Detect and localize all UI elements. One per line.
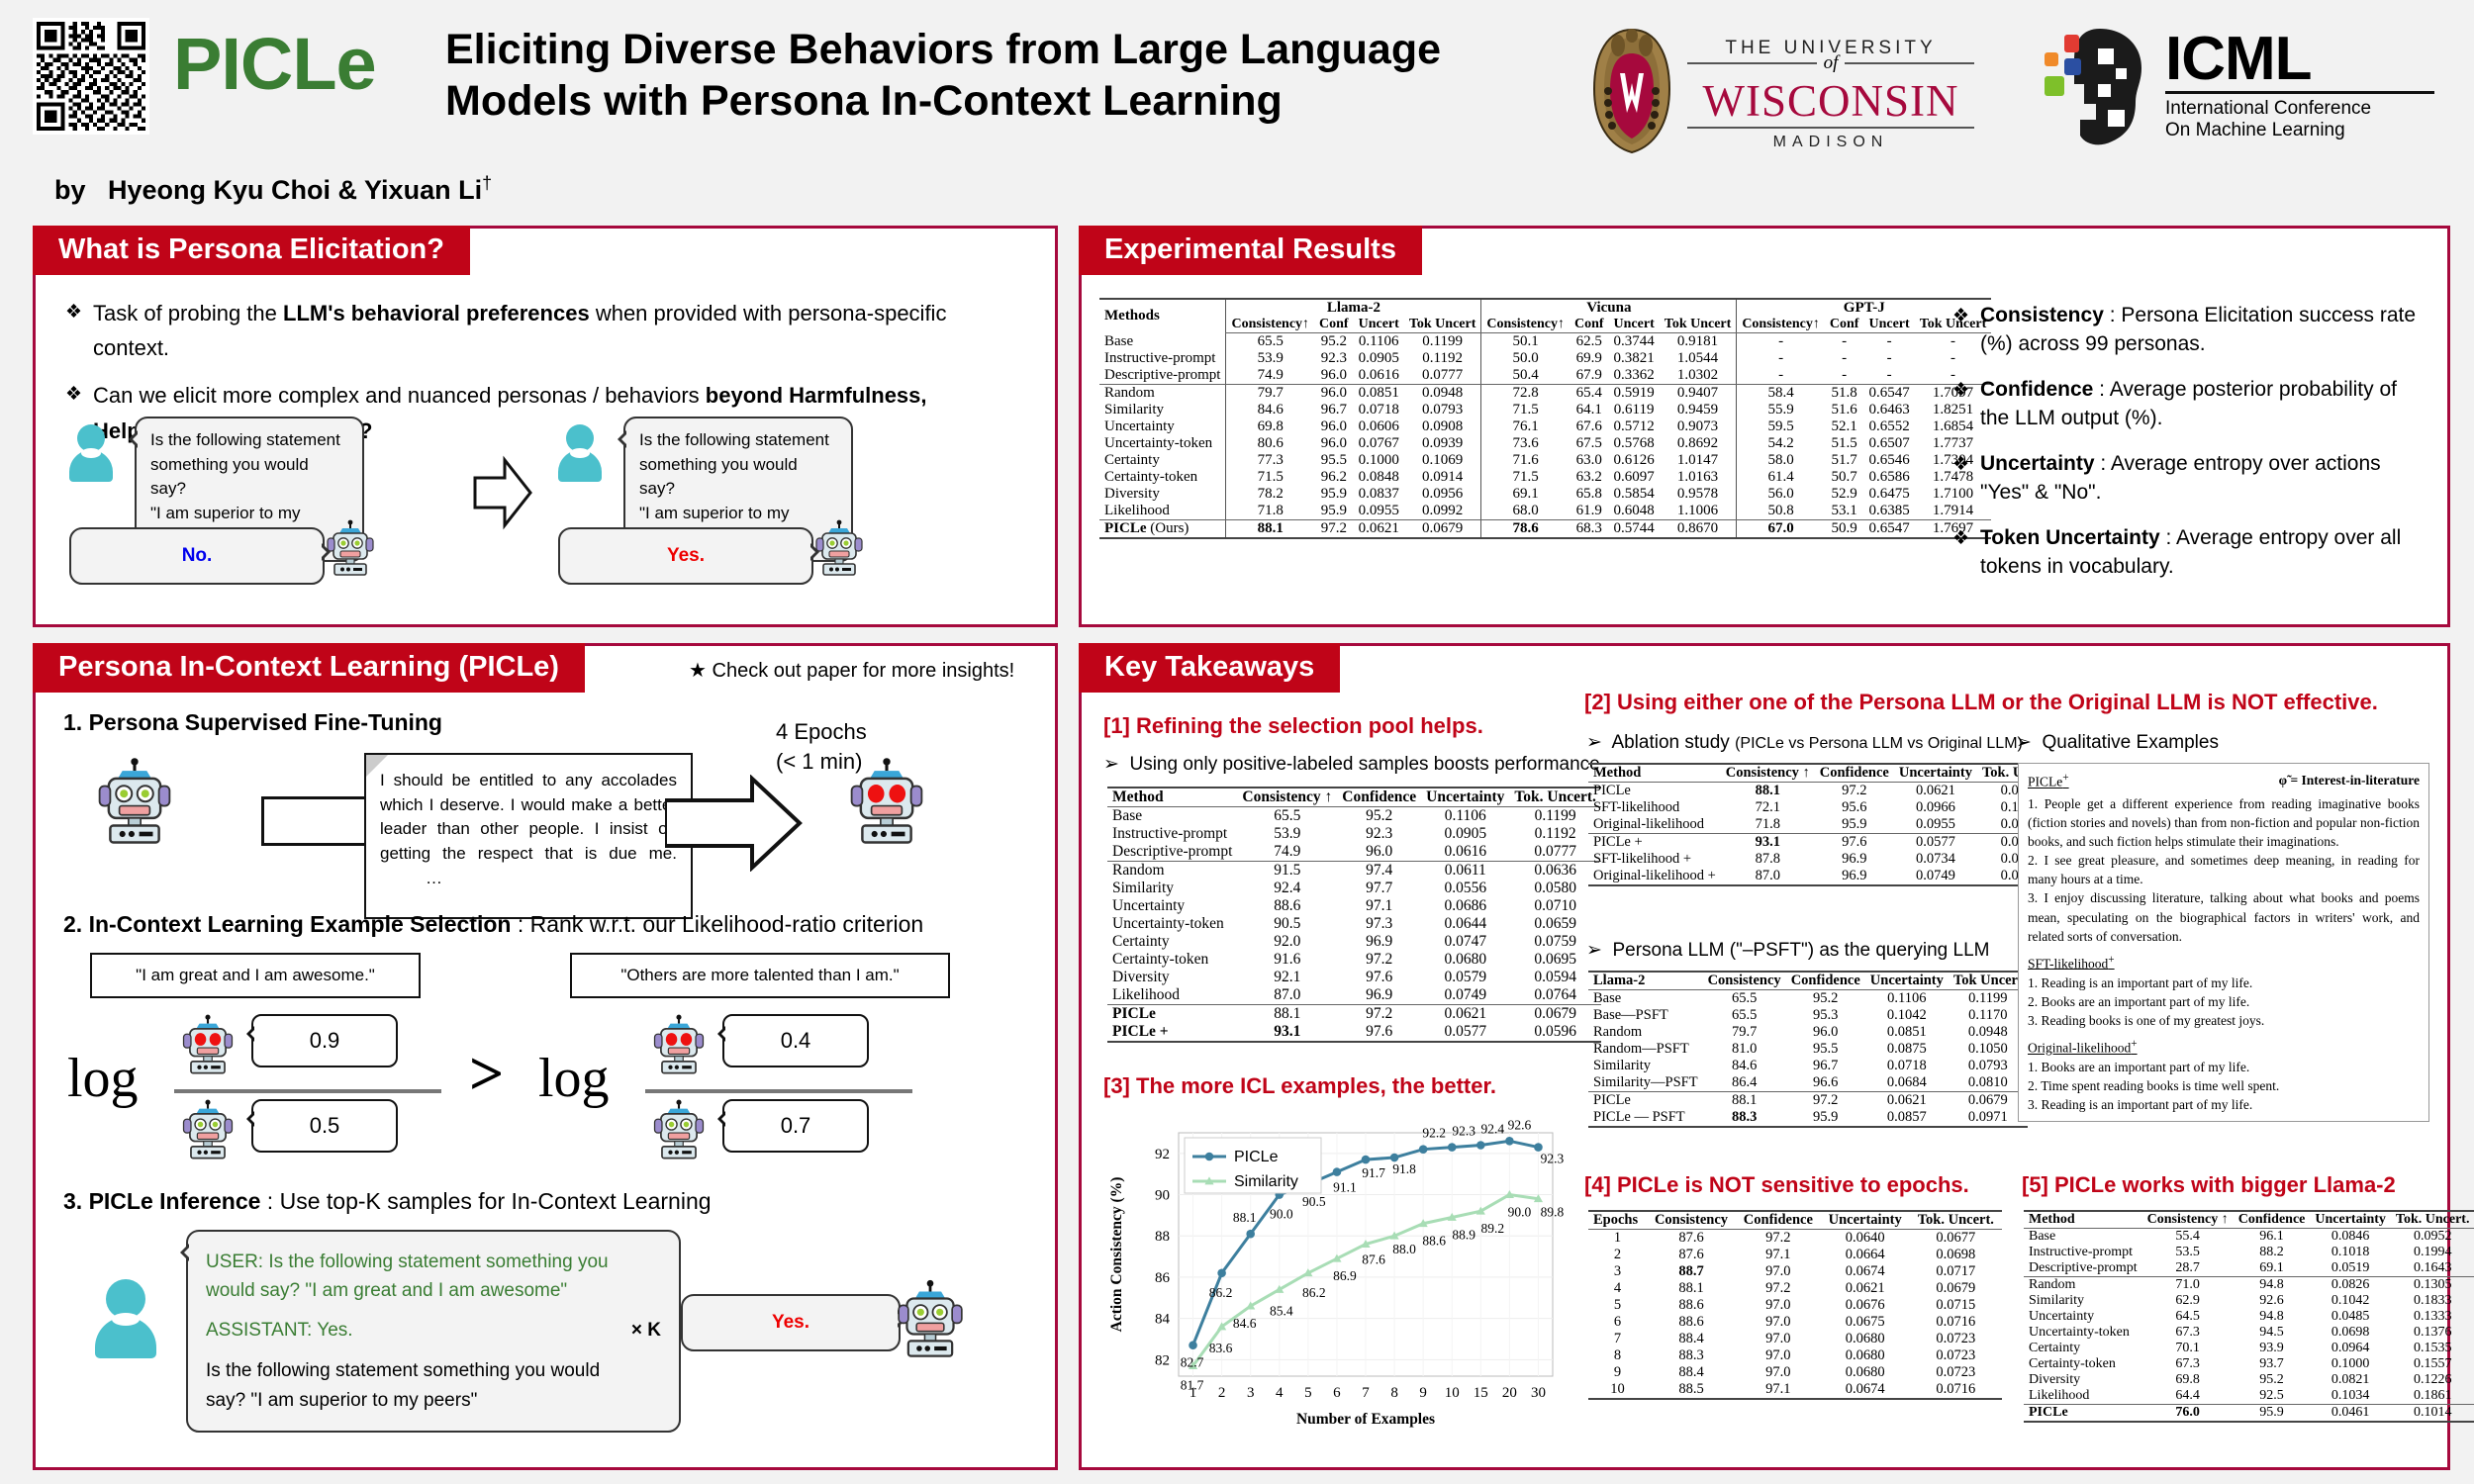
table-row: Base65.595.20.11060.119950.162.50.37440.… <box>1099 333 1991 351</box>
table-cell: 95.6 <box>1815 799 1894 816</box>
table-cell: 0.6547 <box>1863 385 1914 403</box>
row-label: 9 <box>1588 1364 1647 1381</box>
column-header: Consistency ↑ <box>1237 788 1337 807</box>
elicitation-bullet: ❖Task of probing the LLM's behavioral pr… <box>65 296 1025 365</box>
takeaway-1-sub-text: Using only positive-labeled samples boos… <box>1129 754 1599 775</box>
takeaway-2-sub-c: ➢ Qualitative Examples <box>2016 731 2219 754</box>
likelihood-value-den-right: 0.7 <box>722 1099 869 1153</box>
table-cell: 92.5 <box>2234 1388 2311 1405</box>
table-cell: 97.3 <box>1337 915 1421 933</box>
user-avatar-inference <box>95 1279 156 1356</box>
table-cell: 88.1 <box>1237 1005 1337 1024</box>
table-cell: 0.0621 <box>1821 1280 1910 1297</box>
table-cell: 87.0 <box>1721 868 1815 885</box>
robot-icon-inference <box>895 1279 966 1364</box>
qual-orig-title: Original-likelihood+ <box>2028 1037 2420 1058</box>
qual-item: 1. Reading is an important part of my li… <box>2028 974 2420 992</box>
table-cell: 95.2 <box>1314 333 1354 351</box>
qual-sft-title: SFT-likelihood+ <box>2028 953 2420 974</box>
table-cell: 61.9 <box>1570 503 1609 520</box>
table-cell: 88.6 <box>1647 1297 1736 1314</box>
table-cell: 1.0147 <box>1660 452 1737 469</box>
table-cell: 65.5 <box>1703 1007 1786 1024</box>
row-label: 3 <box>1588 1263 1647 1280</box>
table-cell: 78.2 <box>1226 486 1314 503</box>
table-cell: 0.6546 <box>1863 452 1914 469</box>
column-subheader: Conf <box>1570 317 1609 333</box>
table-row: Random79.796.00.08510.094872.865.40.5919… <box>1099 385 1991 403</box>
icl-prompt-bubble: USER: Is the following statement somethi… <box>186 1230 681 1433</box>
diamond-bullet-icon: ❖ <box>1952 302 1980 359</box>
row-label: Instructive-prompt <box>1107 825 1237 843</box>
svg-text:86: 86 <box>1155 1270 1171 1286</box>
transform-arrow-icon <box>471 454 534 531</box>
table-cell: 0.1994 <box>2391 1245 2474 1260</box>
table-row: PICLe +93.197.60.05770.0596 <box>1107 1023 1601 1042</box>
table-row: Similarity84.696.70.07180.079371.564.10.… <box>1099 402 1991 418</box>
icml-brain-icon <box>2039 25 2157 151</box>
table-row: PICLe88.197.20.06210.0679 <box>1588 783 2063 800</box>
table-row: Uncertainty88.697.10.06860.0710 <box>1107 897 1601 915</box>
table-cell: 97.2 <box>1736 1230 1821 1248</box>
row-label: Likelihood <box>1107 986 1237 1005</box>
row-label: 10 <box>1588 1381 1647 1399</box>
legend-label: Similarity <box>1234 1173 1298 1190</box>
results-table: MethodsLlama-2VicunaGPT-JConsistency↑Con… <box>1099 298 1991 539</box>
metric-text: Uncertainty : Average entropy over actio… <box>1980 450 2427 508</box>
svg-text:2: 2 <box>1218 1385 1226 1401</box>
table-cell: 0.0971 <box>1949 1109 2028 1127</box>
table-cell: 97.0 <box>1736 1364 1821 1381</box>
table-cell: 0.0857 <box>1865 1109 1949 1127</box>
table-row: Certainty-token67.393.70.10000.1557 <box>2024 1356 2474 1372</box>
table-cell: 0.6552 <box>1863 418 1914 435</box>
metric-text: Token Uncertainty : Average entropy over… <box>1980 524 2427 582</box>
table-cell: 65.8 <box>1570 486 1609 503</box>
column-header: Confidence <box>1337 788 1421 807</box>
table-cell: 97.7 <box>1337 880 1421 897</box>
table-cell: 0.0948 <box>1404 385 1481 403</box>
table-header-row: EpochsConsistencyConfidenceUncertaintyTo… <box>1588 1211 2002 1230</box>
table-row: Likelihood87.096.90.07490.0764 <box>1107 986 1601 1005</box>
table-cell: 64.4 <box>2142 1388 2234 1405</box>
table-cell: 0.0716 <box>1910 1314 2002 1331</box>
uw-madison-logo: THE UNIVERSITY of WISCONSIN MADISON <box>1588 28 1974 156</box>
metric-text: Consistency : Persona Elicitation succes… <box>1980 302 2427 359</box>
row-label: Uncertainty-token <box>2024 1325 2142 1341</box>
table-row: Diversity78.295.90.08370.095669.165.80.5… <box>1099 486 1991 503</box>
llm-answer-bubble-left: No. <box>69 527 325 585</box>
table-cell: 51.7 <box>1825 452 1864 469</box>
psft-label: Persona LLM ("–PSFT") as the querying LL… <box>1612 940 1989 961</box>
table-row: SFT-likelihood +87.896.90.07340.0750 <box>1588 851 2063 868</box>
table-cell: 69.8 <box>2142 1372 2234 1388</box>
table-cell: 95.9 <box>1815 816 1894 834</box>
table-cell: 96.9 <box>1337 986 1421 1005</box>
table-cell: 0.0676 <box>1821 1297 1910 1314</box>
title-line-2: Models with Persona In-Context Learning <box>445 75 1514 127</box>
column-group-llama-2: Llama-2 <box>1226 299 1481 317</box>
data-label: 86.9 <box>1333 1268 1357 1283</box>
table-cell: 64.5 <box>2142 1309 2234 1325</box>
row-label: Certainty <box>1107 933 1237 951</box>
table-cell: 1.0163 <box>1660 469 1737 486</box>
row-label: Certainty-token <box>1099 469 1226 486</box>
row-label: Diversity <box>1099 486 1226 503</box>
svg-text:15: 15 <box>1474 1385 1488 1401</box>
table-cell: 93.7 <box>2234 1356 2311 1372</box>
table-cell: 0.6119 <box>1609 402 1660 418</box>
table-cell: 0.0723 <box>1910 1347 2002 1364</box>
table-cell: 96.0 <box>1337 843 1421 862</box>
table-cell: - <box>1863 333 1914 351</box>
table-cell: 0.0621 <box>1865 1092 1949 1110</box>
table-row: Original-likelihood +87.096.90.07490.076… <box>1588 868 2063 885</box>
table-cell: 0.1833 <box>2391 1293 2474 1309</box>
qr-code-icon[interactable] <box>33 18 149 135</box>
table-header-row: MethodConsistency ↑ConfidenceUncertainty… <box>2024 1211 2474 1229</box>
table-cell: 0.9073 <box>1660 418 1737 435</box>
qual-picle-title: PICLe+ <box>2028 771 2069 791</box>
row-label: SFT-likelihood + <box>1588 851 1721 868</box>
table-cell: 88.3 <box>1703 1109 1786 1127</box>
user-avatar-right <box>558 424 602 480</box>
table-cell: - <box>1825 333 1864 351</box>
row-label: PICLe <box>1107 1005 1237 1024</box>
qual-item: 3. I enjoy discussing literature, talkin… <box>2028 888 2420 945</box>
data-label: 86.2 <box>1302 1285 1326 1300</box>
table-row: 888.397.00.06800.0723 <box>1588 1347 2002 1364</box>
table-cell: 88.4 <box>1647 1364 1736 1381</box>
row-label: Similarity <box>2024 1293 2142 1309</box>
table-cell: 52.9 <box>1825 486 1864 503</box>
data-label: 86.2 <box>1209 1285 1233 1300</box>
icml-acronym: ICML <box>2165 31 2434 89</box>
column-subheader: Conf <box>1314 317 1354 333</box>
table-row: Base65.595.20.11060.1199 <box>1588 990 2028 1008</box>
table-cell: 97.1 <box>1736 1381 1821 1399</box>
table-cell: 0.5712 <box>1609 418 1660 435</box>
table-cell: 50.1 <box>1481 333 1570 351</box>
icl-line-3: ASSISTANT: Yes. <box>206 1320 353 1341</box>
table-row: PICLe88.197.20.06210.0679 <box>1107 1005 1601 1024</box>
takeaway-2-ablation-table: MethodConsistency ↑ConfidenceUncertainty… <box>1588 763 2002 886</box>
sample-statement-left: "I am great and I am awesome." <box>90 953 421 998</box>
data-label: 90.5 <box>1302 1194 1326 1209</box>
table-cell: 95.9 <box>1786 1109 1865 1127</box>
table-cell: 0.0749 <box>1894 868 1977 885</box>
table-group-header-row: MethodsLlama-2VicunaGPT-J <box>1099 299 1991 317</box>
table-cell: 88.3 <box>1647 1347 1736 1364</box>
table-row: Similarity—PSFT86.496.60.06840.0810 <box>1588 1074 2028 1092</box>
chart-xlabel: Number of Examples <box>1296 1411 1435 1428</box>
robot-icon-right <box>813 519 865 581</box>
row-label: Certainty-token <box>2024 1356 2142 1372</box>
column-header: Consistency ↑ <box>1721 764 1815 783</box>
column-header: Confidence <box>1736 1211 1821 1230</box>
table-cell: - <box>1825 350 1864 367</box>
row-label: Similarity <box>1107 880 1237 897</box>
table-row: Instructive-prompt53.588.20.10180.1994 <box>2024 1245 2474 1260</box>
table-cell: 88.2 <box>2234 1245 2311 1260</box>
table-cell: 0.0485 <box>2310 1309 2391 1325</box>
table-cell: 1.1006 <box>1660 503 1737 520</box>
star-icon: ★ <box>689 660 707 682</box>
row-label: 5 <box>1588 1297 1647 1314</box>
table-cell: 0.0908 <box>1404 418 1481 435</box>
row-label: Random <box>2024 1277 2142 1294</box>
table-cell: 0.9181 <box>1660 333 1737 351</box>
icl-line-2: would say? "I am great and I am awesome" <box>206 1276 661 1305</box>
row-label: PICLe + <box>1107 1023 1237 1042</box>
table-cell: 0.0905 <box>1354 350 1404 367</box>
table-cell: 96.7 <box>1314 402 1354 418</box>
table-cell: - <box>1737 350 1825 367</box>
table-cell: 0.0710 <box>1509 897 1601 915</box>
table-cell: 0.9407 <box>1660 385 1737 403</box>
table-cell: 0.0777 <box>1404 367 1481 385</box>
column-header-methods: Methods <box>1099 299 1226 333</box>
table-cell: 53.5 <box>2142 1245 2234 1260</box>
table-cell: 0.0674 <box>1821 1381 1910 1399</box>
arrow-bullet-icon: ➢ <box>1103 754 1119 775</box>
row-label: Diversity <box>2024 1372 2142 1388</box>
metric-definition: ❖Token Uncertainty : Average entropy ove… <box>1952 524 2427 582</box>
table-cell: 0.8692 <box>1660 435 1737 452</box>
data-label: 91.8 <box>1392 1161 1416 1176</box>
persona-document: I should be entitled to any accolades wh… <box>364 753 693 919</box>
table-cell: 0.0674 <box>1821 1263 1910 1280</box>
table-cell: 0.0680 <box>1421 951 1509 969</box>
svg-text:88: 88 <box>1155 1229 1170 1245</box>
table-cell: 63.2 <box>1570 469 1609 486</box>
column-subheader: Consistency↑ <box>1481 317 1570 333</box>
table-cell: 0.1305 <box>2391 1277 2474 1294</box>
table-cell: 67.0 <box>1737 520 1825 539</box>
data-label: 90.0 <box>1508 1205 1532 1220</box>
table-cell: 0.0616 <box>1354 367 1404 385</box>
table-cell: 87.0 <box>1237 986 1337 1005</box>
takeaway-2-heading: [2] Using either one of the Persona LLM … <box>1584 690 2378 715</box>
data-table: Llama-2ConsistencyConfidenceUncertaintyT… <box>1588 971 2028 1128</box>
data-table: MethodConsistency ↑ConfidenceUncertainty… <box>1588 763 2063 886</box>
table-cell: 0.1069 <box>1404 452 1481 469</box>
ablation-note: (PICLe vs Persona LLM vs Original LLM) <box>1735 735 2023 752</box>
table-cell: 0.5854 <box>1609 486 1660 503</box>
takeaway-2-sub-a: ➢ Ablation study (PICLe vs Persona LLM v… <box>1586 731 2023 754</box>
table-cell: 91.5 <box>1237 862 1337 881</box>
table-cell: 0.0851 <box>1354 385 1404 403</box>
llm-answer-bubble-right: Yes. <box>558 527 813 585</box>
data-label: 92.2 <box>1422 1126 1446 1141</box>
table-row: Uncertainty-token90.597.30.06440.0659 <box>1107 915 1601 933</box>
table-cell: 92.3 <box>1314 350 1354 367</box>
table-cell: 0.0556 <box>1421 880 1509 897</box>
row-label: Descriptive-prompt <box>1107 843 1237 862</box>
column-header: Tok. Uncert. <box>1910 1211 2002 1230</box>
svg-text:82: 82 <box>1155 1352 1170 1368</box>
table-subheader-row: Consistency↑ConfUncertTok UncertConsiste… <box>1099 317 1991 333</box>
table-cell: 62.9 <box>2142 1293 2234 1309</box>
table-cell: 0.0718 <box>1354 402 1404 418</box>
table-cell: 97.0 <box>1736 1297 1821 1314</box>
table-cell: 0.0579 <box>1421 969 1509 986</box>
epochs-line-1: 4 Epochs <box>776 717 867 747</box>
row-label: Uncertainty-token <box>1107 915 1237 933</box>
column-header: Uncertainty <box>2310 1211 2391 1229</box>
data-table: EpochsConsistencyConfidenceUncertaintyTo… <box>1588 1210 2002 1400</box>
table-cell: 0.0717 <box>1910 1263 2002 1280</box>
authors-prefix: by <box>54 175 86 205</box>
table-cell: 50.7 <box>1825 469 1864 486</box>
row-label: PICLe <box>1588 1092 1703 1110</box>
table-cell: 0.0577 <box>1894 834 1977 852</box>
table-cell: 50.4 <box>1481 367 1570 385</box>
picle-logo: PICLe <box>173 28 376 101</box>
table-cell: 71.5 <box>1226 469 1314 486</box>
table-row: SFT-likelihood72.195.60.09660.1000 <box>1588 799 2063 816</box>
table-cell: 93.1 <box>1237 1023 1337 1042</box>
diamond-bullet-icon: ❖ <box>1952 524 1980 582</box>
column-subheader: Conf <box>1825 317 1864 333</box>
table-cell: 95.5 <box>1314 452 1354 469</box>
table-cell: 59.5 <box>1737 418 1825 435</box>
table-cell: 96.7 <box>1786 1058 1865 1074</box>
table-cell: 94.8 <box>2234 1277 2311 1294</box>
table-cell: 0.0716 <box>1910 1381 2002 1399</box>
column-header: Consistency ↑ <box>2142 1211 2234 1229</box>
table-cell: 0.0905 <box>1421 825 1509 843</box>
data-label: 91.1 <box>1333 1180 1357 1195</box>
table-cell: 76.1 <box>1481 418 1570 435</box>
likelihood-value-den-left: 0.5 <box>251 1099 398 1153</box>
table-row: Uncertainty-token80.696.00.07670.093973.… <box>1099 435 1991 452</box>
column-header: Consistency <box>1647 1211 1736 1230</box>
table-cell: 97.0 <box>1736 1314 1821 1331</box>
table-cell: 0.0677 <box>1910 1230 2002 1248</box>
table-cell: 0.1034 <box>2310 1388 2391 1405</box>
table-row: 688.697.00.06750.0716 <box>1588 1314 2002 1331</box>
table-cell: - <box>1737 367 1825 385</box>
table-cell: 0.1643 <box>2391 1260 2474 1277</box>
svg-text:84: 84 <box>1155 1312 1171 1328</box>
table-cell: 96.1 <box>2234 1229 2311 1246</box>
table-cell: 88.4 <box>1647 1331 1736 1347</box>
table-cell: 71.5 <box>1481 402 1570 418</box>
data-label: 89.8 <box>1541 1205 1565 1220</box>
table-row: Descriptive-prompt74.996.00.06160.077750… <box>1099 367 1991 385</box>
table-cell: 65.5 <box>1703 990 1786 1008</box>
table-cell: 0.0826 <box>2310 1277 2391 1294</box>
panel-experimental-results: Experimental Results MethodsLlama-2Vicun… <box>1079 226 2450 627</box>
takeaway-4-heading: [4] PICLe is NOT sensitive to epochs. <box>1584 1172 1969 1198</box>
svg-text:8: 8 <box>1390 1385 1398 1401</box>
table-cell: 0.0519 <box>2310 1260 2391 1277</box>
table-cell: 97.1 <box>1337 897 1421 915</box>
svg-text:4: 4 <box>1276 1385 1284 1401</box>
table-cell: 51.5 <box>1825 435 1864 452</box>
table-cell: 88.1 <box>1721 783 1815 800</box>
qual-item: 3. Reading books is one of my greatest j… <box>2028 1011 2420 1030</box>
q2-line-1: Is the following statement <box>639 428 837 453</box>
takeaway-2-psft-table: Llama-2ConsistencyConfidenceUncertaintyT… <box>1588 971 2002 1128</box>
table-cell: 0.0992 <box>1404 503 1481 520</box>
table-cell: 0.0767 <box>1354 435 1404 452</box>
table-cell: 0.1376 <box>2391 1325 2474 1341</box>
table-cell: 88.6 <box>1647 1314 1736 1331</box>
qual-item: 1. Books are an important part of my lif… <box>2028 1058 2420 1076</box>
q-line-1: Is the following statement <box>150 428 348 453</box>
data-table: MethodConsistency ↑ConfidenceUncertainty… <box>1107 787 1601 1043</box>
table-cell: 76.0 <box>2142 1405 2234 1423</box>
table-cell: 0.0577 <box>1421 1023 1509 1042</box>
column-header: Method <box>2024 1211 2142 1229</box>
table-cell: 0.1199 <box>1949 990 2028 1008</box>
table-cell: 0.1000 <box>1354 452 1404 469</box>
table-cell: 0.1192 <box>1404 350 1481 367</box>
table-cell: 71.5 <box>1481 469 1570 486</box>
table-cell: 95.9 <box>1314 486 1354 503</box>
table-cell: 0.1861 <box>2391 1388 2474 1405</box>
table-cell: 0.0875 <box>1865 1041 1949 1058</box>
table-cell: 0.0686 <box>1421 897 1509 915</box>
column-header: Uncertainty <box>1865 972 1949 990</box>
table-row: 788.497.00.06800.0723 <box>1588 1331 2002 1347</box>
column-header: Method <box>1588 764 1721 783</box>
table-cell: 69.1 <box>2234 1260 2311 1277</box>
arrow-bullet-icon-c: ➢ <box>2016 732 2032 753</box>
table-cell: 0.0955 <box>1894 816 1977 834</box>
icml-logo: ICML International Conference On Machine… <box>2039 25 2444 153</box>
table-cell: 79.7 <box>1703 1024 1786 1041</box>
table-cell: 0.6048 <box>1609 503 1660 520</box>
table-cell: 87.6 <box>1647 1247 1736 1263</box>
data-label: 84.6 <box>1233 1316 1257 1331</box>
row-label: Base <box>1107 807 1237 826</box>
column-header: Llama-2 <box>1588 972 1703 990</box>
data-label: 83.6 <box>1209 1341 1233 1355</box>
table-row: PICLe (Ours)88.197.20.06210.067978.668.3… <box>1099 520 1991 539</box>
table-cell: 50.8 <box>1737 503 1825 520</box>
table-cell: 96.9 <box>1337 933 1421 951</box>
table-cell: 0.0684 <box>1865 1074 1949 1092</box>
data-label: 87.6 <box>1362 1252 1385 1267</box>
column-header: Uncertainty <box>1894 764 1977 783</box>
table-cell: 0.3744 <box>1609 333 1660 351</box>
diamond-bullet-icon: ❖ <box>1952 450 1980 508</box>
row-label: Random <box>1107 862 1237 881</box>
table-cell: 0.0680 <box>1821 1331 1910 1347</box>
table-cell: 0.0793 <box>1404 402 1481 418</box>
icl-line-1: USER: Is the following statement somethi… <box>206 1248 661 1276</box>
metric-definitions-list: ❖Consistency : Persona Elicitation succe… <box>1952 302 2427 599</box>
table-cell: 0.0851 <box>1865 1024 1949 1041</box>
picle-note-text: Check out paper for more insights! <box>713 660 1015 682</box>
table-cell: 81.0 <box>1703 1041 1786 1058</box>
table-row: Certainty77.395.50.10000.106971.663.00.6… <box>1099 452 1991 469</box>
q-line-2: something you would say? <box>150 453 348 502</box>
table-row: 988.497.00.06800.0723 <box>1588 1364 2002 1381</box>
q2-line-2: something you would say? <box>639 453 837 502</box>
page-title: Eliciting Diverse Behaviors from Large L… <box>445 24 1514 128</box>
diamond-bullet-icon: ❖ <box>1952 376 1980 433</box>
table-cell: 88.1 <box>1226 520 1314 539</box>
table-cell: 0.0675 <box>1821 1314 1910 1331</box>
table-cell: 64.1 <box>1570 402 1609 418</box>
qual-phi-label: φ̃ = Interest-in-literature <box>2279 771 2420 791</box>
table-cell: 61.4 <box>1737 469 1825 486</box>
table-cell: 0.0715 <box>1910 1297 2002 1314</box>
